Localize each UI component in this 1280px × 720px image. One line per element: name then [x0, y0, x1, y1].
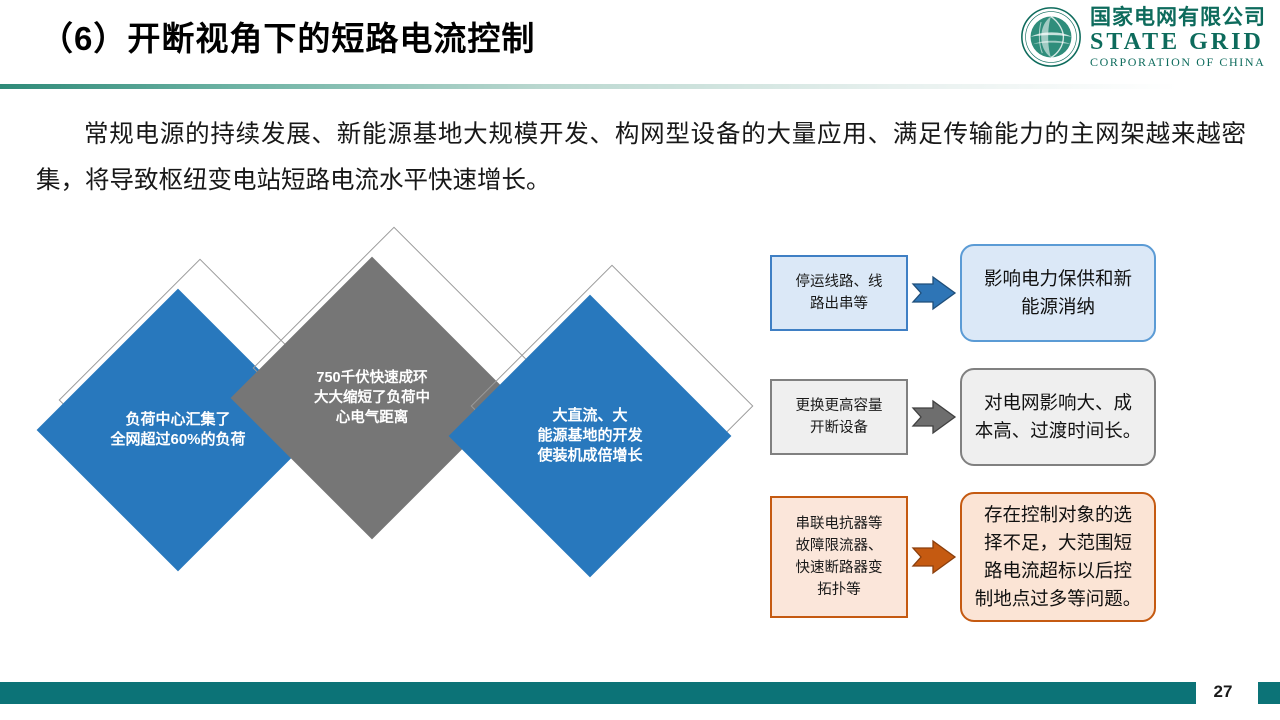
page-number: 27 — [1196, 682, 1250, 702]
flow-row: 串联电抗器等 故障限流器、 快速断路器变 拓扑等 存在控制对象的选 择不足，大范… — [770, 492, 1170, 622]
footer-bar-end-cap — [1258, 682, 1280, 704]
body-paragraph: 常规电源的持续发展、新能源基地大规模开发、构网型设备的大量应用、满足传输能力的主… — [36, 112, 1246, 204]
right-arrow-icon — [911, 539, 957, 575]
brand-name-sub: CORPORATION OF CHINA — [1090, 56, 1266, 68]
flow-arrow — [908, 271, 960, 315]
flow-arrow — [908, 535, 960, 579]
diamond-label: 大直流、大 能源基地的开发 使装机成倍增长 — [490, 336, 690, 536]
flow-source-box: 停运线路、线 路出串等 — [770, 255, 908, 331]
flow-row: 停运线路、线 路出串等 影响电力保供和新 能源消纳 — [770, 244, 1170, 342]
flow-source-box: 串联电抗器等 故障限流器、 快速断路器变 拓扑等 — [770, 496, 908, 618]
flow-result-box: 存在控制对象的选 择不足，大范围短 路电流超标以后控 制地点过多等问题。 — [960, 492, 1156, 622]
header-divider — [0, 84, 1280, 89]
diamond-label: 750千伏快速成环 大大缩短了负荷中 心电气距离 — [272, 298, 472, 498]
state-grid-globe-icon — [1020, 6, 1082, 68]
flow-diagram: 停运线路、线 路出串等 影响电力保供和新 能源消纳 更换更高容量 开断设备 对电… — [770, 244, 1170, 648]
diamond-item: 750千伏快速成环 大大缩短了负荷中 心电气距离 — [272, 286, 502, 516]
diamond-label: 负荷中心汇集了 全网超过60%的负荷 — [78, 330, 278, 530]
flow-result-box: 对电网影响大、成 本高、过渡时间长。 — [960, 368, 1156, 466]
diamond-group: 负荷中心汇集了 全网超过60%的负荷 750千伏快速成环 大大缩短了负荷中 心电… — [0, 300, 760, 540]
diamond-item: 大直流、大 能源基地的开发 使装机成倍增长 — [490, 324, 720, 554]
right-arrow-icon — [911, 399, 957, 435]
brand-name-en: STATE GRID — [1090, 30, 1266, 54]
flow-row: 更换更高容量 开断设备 对电网影响大、成 本高、过渡时间长。 — [770, 368, 1170, 466]
right-arrow-icon — [911, 275, 957, 311]
flow-result-box: 影响电力保供和新 能源消纳 — [960, 244, 1156, 342]
brand-name-cn: 国家电网有限公司 — [1090, 7, 1266, 28]
flow-source-box: 更换更高容量 开断设备 — [770, 379, 908, 455]
slide-root: （6）开断视角下的短路电流控制 国家电网有限公司 STATE GRID CORP… — [0, 0, 1280, 720]
flow-arrow — [908, 395, 960, 439]
brand-logo: 国家电网有限公司 STATE GRID CORPORATION OF CHINA — [1020, 6, 1266, 68]
page-title: （6）开断视角下的短路电流控制 — [40, 12, 535, 60]
brand-logo-text: 国家电网有限公司 STATE GRID CORPORATION OF CHINA — [1090, 7, 1266, 68]
footer-bar — [0, 682, 1196, 704]
